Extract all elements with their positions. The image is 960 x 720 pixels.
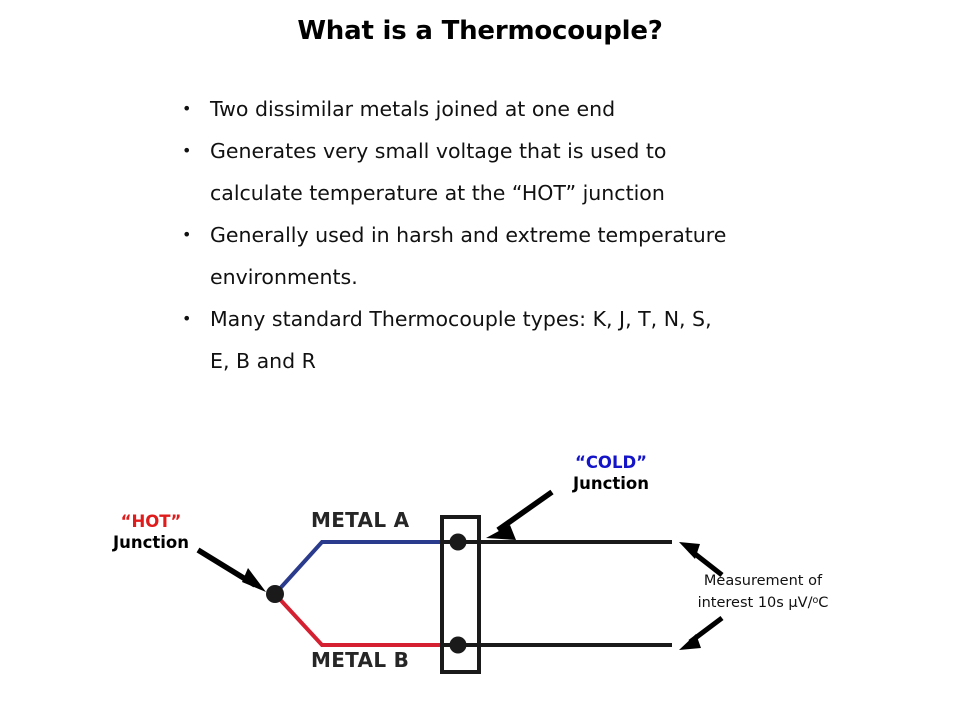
list-item-text: Many standard Thermocouple types: K, J, … (210, 298, 882, 382)
list-item-text: Generates very small voltage that is use… (210, 130, 882, 214)
cold-junction-arrow (486, 492, 552, 540)
bullet-icon: • (182, 298, 210, 340)
bullet-icon: • (182, 130, 210, 172)
list-item: • Many standard Thermocouple types: K, J… (182, 298, 882, 382)
measurement-arrow-upper (679, 542, 722, 575)
hot-junction-arrow (198, 550, 266, 592)
list-item: • Two dissimilar metals joined at one en… (182, 88, 882, 130)
bullet-icon: • (182, 88, 210, 130)
bullet-list: • Two dissimilar metals joined at one en… (182, 88, 882, 382)
list-item: • Generates very small voltage that is u… (182, 130, 882, 214)
list-item-text: Two dissimilar metals joined at one end (210, 88, 882, 130)
thermocouple-diagram (0, 430, 960, 720)
cold-junction-dot-upper (450, 534, 467, 551)
metal-b-wire (275, 594, 460, 645)
hot-junction-dot (266, 585, 284, 603)
measurement-arrow-lower (679, 618, 722, 650)
slide-canvas: What is a Thermocouple? • Two dissimilar… (0, 0, 960, 720)
metal-a-wire (275, 542, 460, 594)
bullet-icon: • (182, 214, 210, 256)
list-item: • Generally used in harsh and extreme te… (182, 214, 882, 298)
page-title: What is a Thermocouple? (0, 16, 960, 46)
cold-junction-dot-lower (450, 637, 467, 654)
list-item-text: Generally used in harsh and extreme temp… (210, 214, 882, 298)
